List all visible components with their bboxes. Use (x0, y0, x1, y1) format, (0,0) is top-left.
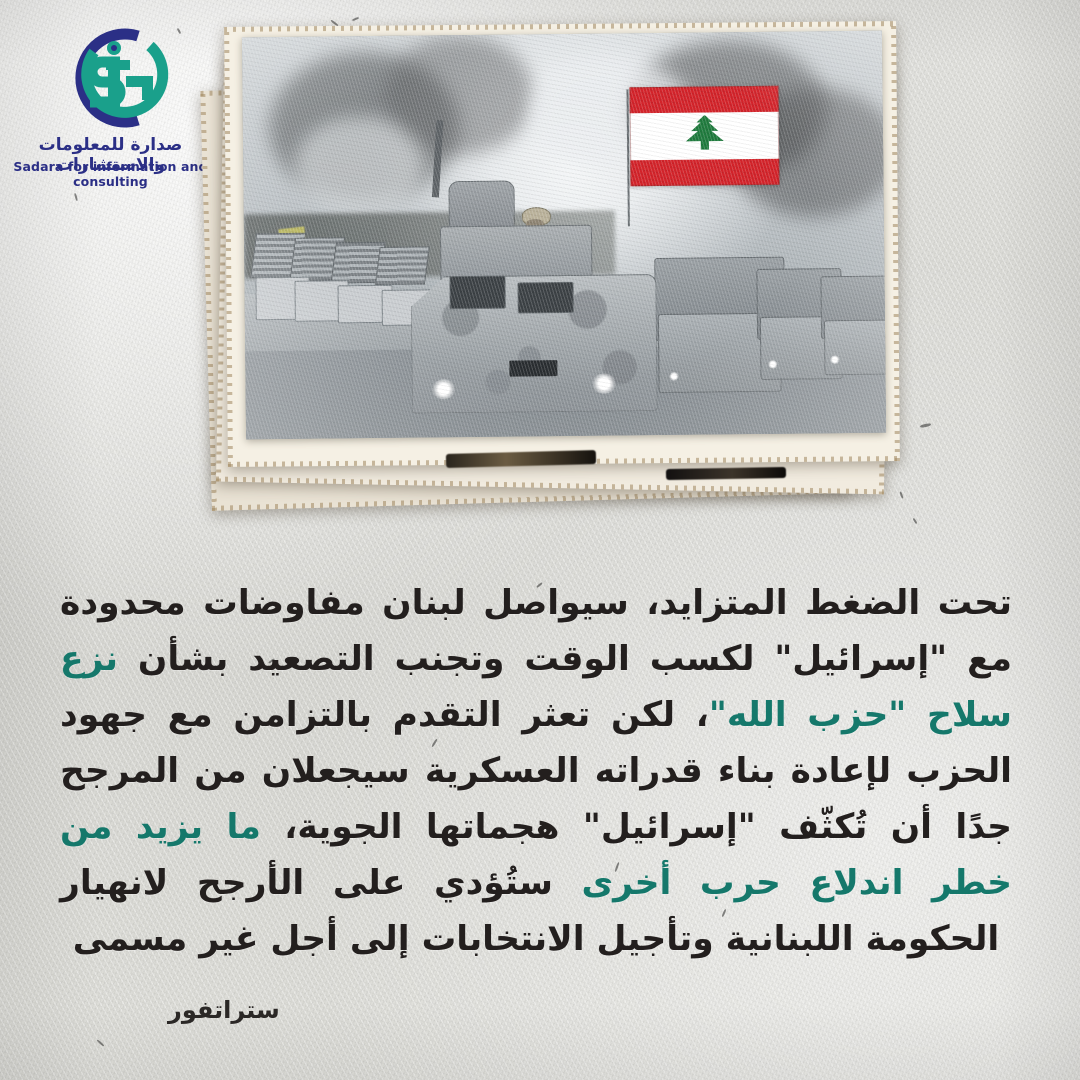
photo-tear-mark (666, 467, 786, 480)
convoy-photograph (242, 31, 886, 440)
lebanon-flag-icon (630, 86, 780, 186)
headlight (592, 373, 617, 394)
apc-viewport (450, 275, 506, 309)
apc-viewport (518, 281, 574, 313)
paper-speck (74, 193, 78, 201)
brand-name-english: Sadara for information and consulting (8, 159, 213, 189)
sig-monogram-logo-icon (54, 22, 172, 134)
headlight (830, 355, 839, 364)
analysis-paragraph: تحت الضغط المتزايد، سيواصل لبنان مفاوضات… (60, 575, 1012, 967)
convoy-truck-cab (824, 320, 886, 375)
paper-speck (913, 518, 918, 524)
photo-stack (196, 16, 916, 516)
license-plate (509, 360, 558, 376)
headlight (768, 360, 777, 369)
paper-speck (920, 423, 931, 428)
cedar-tree-icon (671, 114, 739, 157)
body-text-run: تحت الضغط المتزايد، سيواصل لبنان مفاوضات… (60, 583, 1012, 679)
headlight (669, 372, 678, 381)
poster-canvas: صدارة للمعلومات والاستشارات Sadara for i… (0, 0, 1080, 1080)
paper-speck (96, 1039, 104, 1047)
source-credit: ستراتفور (168, 996, 280, 1024)
armored-personnel-carrier (410, 186, 656, 414)
brand-logo: صدارة للمعلومات والاستشارات Sadara for i… (8, 22, 213, 182)
